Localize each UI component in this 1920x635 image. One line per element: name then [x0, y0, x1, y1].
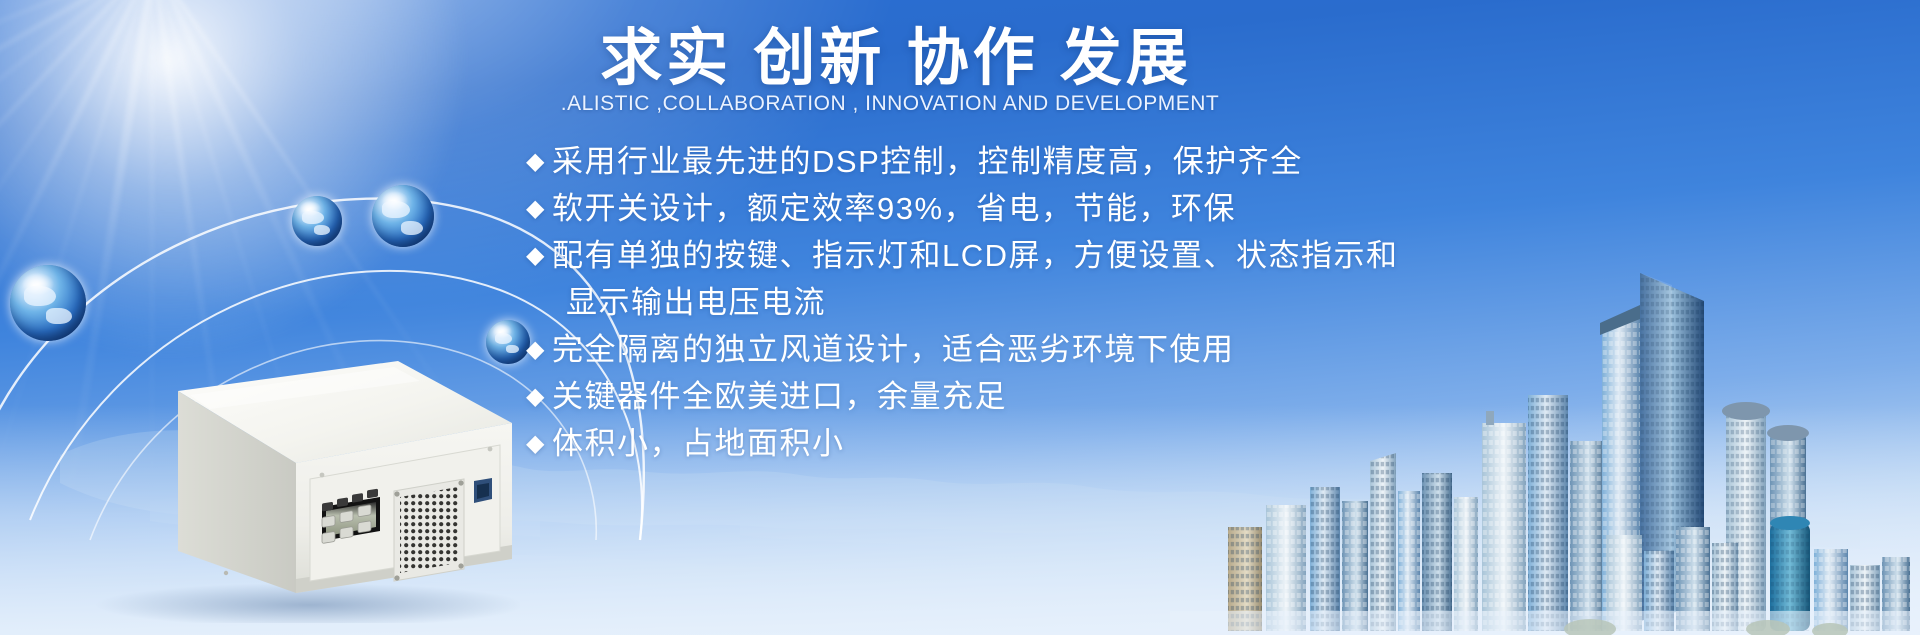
diamond-bullet-icon: ◆ — [526, 328, 552, 372]
diamond-bullet-icon: ◆ — [526, 140, 552, 184]
banner-text-block: 求实 创新 协作 发展 .ALISTIC ,COLLABORATION , IN… — [636, 0, 1846, 635]
list-item: ◆ 采用行业最先进的DSP控制，控制精度高，保护齐全 — [526, 140, 1566, 184]
list-item-label: 显示输出电压电流 — [552, 281, 826, 325]
list-item-label: 完全隔离的独立风道设计，适合恶劣环境下使用 — [552, 328, 1235, 372]
list-item-continuation: ◆ 显示输出电压电流 — [526, 281, 1566, 325]
list-item-label: 软开关设计，额定效率93%，省电，节能，环保 — [552, 187, 1236, 231]
globe-icon — [372, 185, 434, 247]
feature-list: ◆ 采用行业最先进的DSP控制，控制精度高，保护齐全 ◆ 软开关设计，额定效率9… — [526, 140, 1566, 469]
diamond-bullet-icon: ◆ — [526, 375, 552, 419]
list-item-label: 采用行业最先进的DSP控制，控制精度高，保护齐全 — [552, 140, 1303, 184]
list-item-label: 体积小，占地面积小 — [552, 422, 845, 466]
list-item: ◆ 完全隔离的独立风道设计，适合恶劣环境下使用 — [526, 328, 1566, 372]
list-item-label: 关键器件全欧美进口，余量充足 — [552, 375, 1007, 419]
diamond-bullet-icon: ◆ — [526, 187, 552, 231]
page-subtitle: .ALISTIC ,COLLABORATION , INNOVATION AND… — [520, 92, 1260, 116]
rack-mount-power-supply-photo — [60, 283, 520, 623]
list-item-label: 配有单独的按键、指示灯和LCD屏，方便设置、状态指示和 — [552, 234, 1399, 278]
list-item: ◆ 关键器件全欧美进口，余量充足 — [526, 375, 1566, 419]
diamond-bullet-icon: ◆ — [526, 234, 552, 278]
globe-icon — [292, 196, 342, 246]
list-item: ◆ 体积小，占地面积小 — [526, 422, 1566, 466]
list-item: ◆ 配有单独的按键、指示灯和LCD屏，方便设置、状态指示和 — [526, 234, 1566, 278]
page-title: 求实 创新 协作 发展 — [526, 26, 1266, 91]
diamond-bullet-icon: ◆ — [526, 422, 552, 466]
promo-banner: 求实 创新 协作 发展 .ALISTIC ,COLLABORATION , IN… — [0, 0, 1920, 635]
list-item: ◆ 软开关设计，额定效率93%，省电，节能，环保 — [526, 187, 1566, 231]
